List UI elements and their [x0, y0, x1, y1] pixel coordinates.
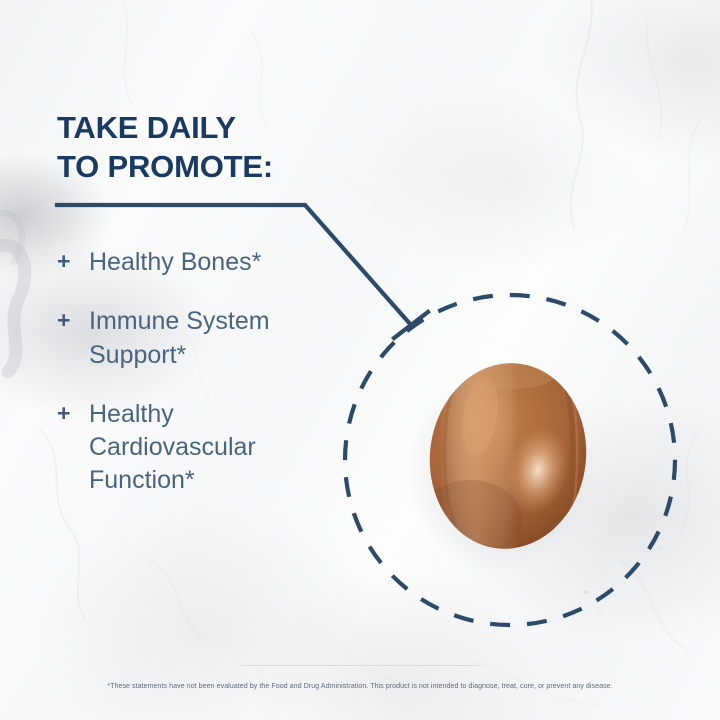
fda-disclaimer: *These statements have not been evaluate… [0, 682, 720, 692]
product-benefits-graphic: TAKE DAILY TO PROMOTE: + Healthy Bones* … [0, 0, 720, 720]
product-callout [0, 0, 720, 720]
footer-divider [241, 665, 479, 666]
